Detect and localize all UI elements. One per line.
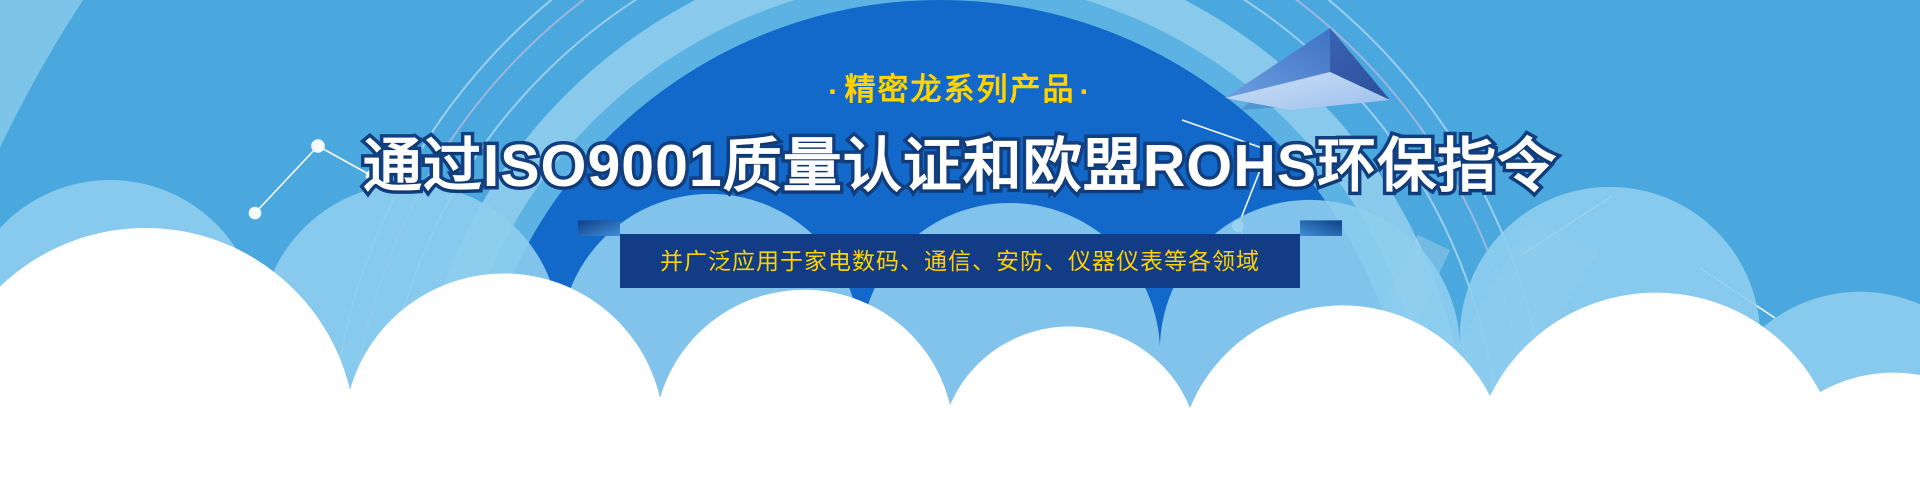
promo-banner: ·精密龙系列产品· 通过ISO9001质量认证和欧盟ROHS环保指令 并广泛应用… [0,0,1920,480]
banner-background-art [0,0,1920,480]
